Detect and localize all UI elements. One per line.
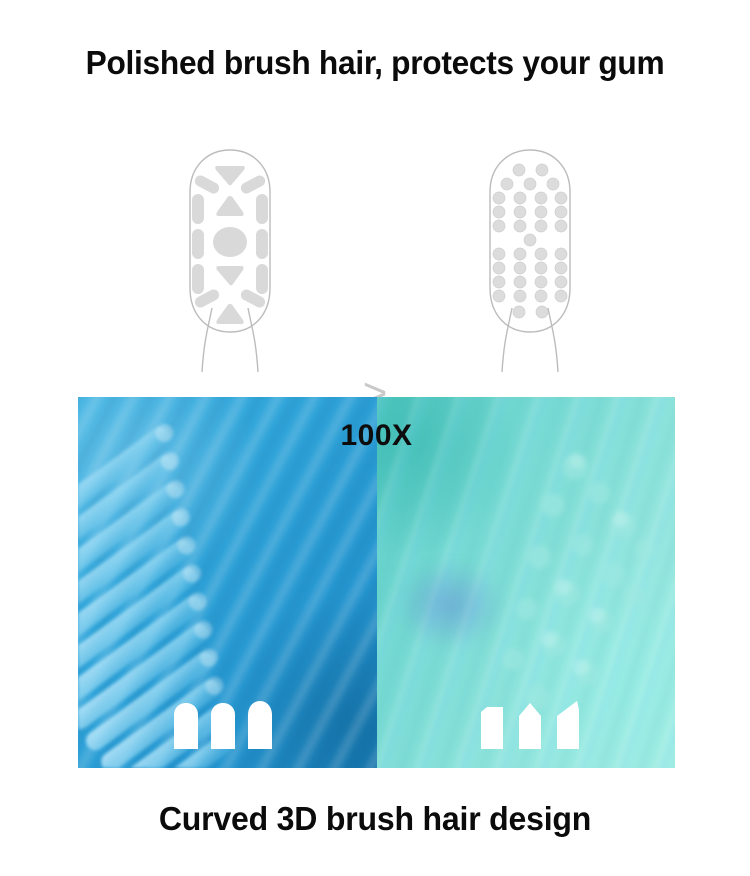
brush-head-polished-diagram [150,140,310,375]
page-title: Polished brush hair, protects your gum [15,44,735,82]
angled-sharp-tip-icon [556,700,580,750]
sharp-tip-icon-group [377,696,676,750]
brush-head-ordinary-diagram [450,140,610,375]
rounded-tip-icon [173,702,199,750]
magnification-label: 100X [78,419,675,453]
rounded-tip-icon-group [78,696,377,750]
rounded-tip-icon [210,702,236,750]
microscope-comparison-photo: 100X [78,397,675,768]
bottom-caption: Curved 3D brush hair design [11,800,739,838]
rounded-tip-icon [247,700,273,750]
pointed-tip-icon [518,702,542,750]
brush-head-comparison: > [0,140,750,375]
flat-clipped-tip-icon [480,706,504,750]
bristle-tip-icon-strip [78,696,675,750]
